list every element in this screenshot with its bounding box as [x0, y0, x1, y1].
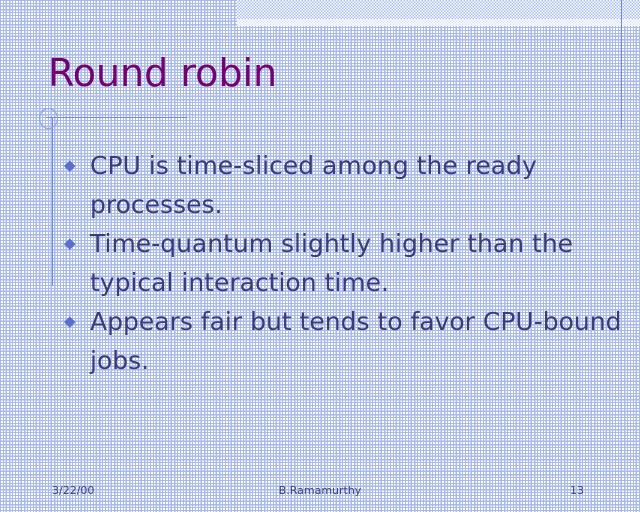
- circle-decoration-icon: [39, 108, 58, 129]
- bullet-text: Appears fair but tends to favor CPU-boun…: [90, 302, 622, 380]
- bullet-text: Time-quantum slightly higher than the ty…: [90, 224, 622, 302]
- footer-page-number: 13: [570, 482, 584, 500]
- slide-title: Round robin: [48, 50, 277, 96]
- presentation-slide: Round robin ◆ CPU is time-sliced among t…: [0, 0, 640, 512]
- bullet-text: CPU is time-sliced among the ready proce…: [90, 146, 622, 224]
- top-decorative-band: [237, 0, 640, 19]
- diamond-bullet-icon: ◆: [64, 302, 76, 341]
- title-underline-rule: [46, 117, 187, 118]
- footer-author: B.Ramamurthy: [0, 482, 640, 500]
- diamond-bullet-icon: ◆: [64, 224, 76, 263]
- diamond-bullet-icon: ◆: [64, 146, 76, 185]
- left-vertical-rule: [52, 118, 53, 286]
- top-decorative-band-fade: [237, 19, 640, 26]
- right-vertical-rule: [621, 0, 622, 129]
- bullet-item: ◆ Time-quantum slightly higher than the …: [62, 224, 622, 302]
- slide-footer: 3/22/00 B.Ramamurthy 13: [0, 482, 640, 500]
- slide-body: ◆ CPU is time-sliced among the ready pro…: [62, 146, 622, 380]
- bullet-item: ◆ Appears fair but tends to favor CPU-bo…: [62, 302, 622, 380]
- bullet-item: ◆ CPU is time-sliced among the ready pro…: [62, 146, 622, 224]
